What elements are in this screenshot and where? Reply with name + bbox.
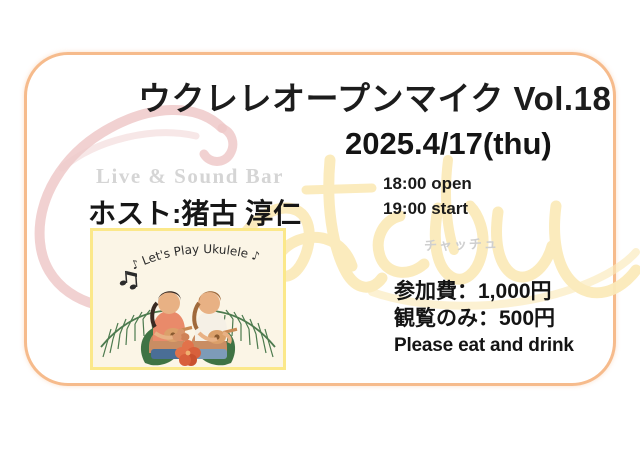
open-time: 18:00 open [383, 171, 472, 196]
price-block: 参加費：1,000円 観覧のみ：500円 Please eat and drin… [394, 278, 574, 359]
eat-drink-note: Please eat and drink [394, 332, 574, 359]
page-title: ウクレレオープンマイク Vol.18 [138, 72, 611, 120]
brand-reading-katakana: チャッチュ [424, 233, 499, 255]
venue-brand-label: Live & Sound Bar [96, 164, 284, 189]
viewing-fee: 観覧のみ：500円 [394, 305, 574, 332]
start-time: 19:00 start [383, 196, 472, 221]
entry-fee: 参加費：1,000円 [394, 278, 574, 305]
ukulele-illustration-svg: ♪ Let's Play Ukulele ♪ [93, 231, 283, 367]
ukulele-illustration: ♪ Let's Play Ukulele ♪ [90, 228, 286, 370]
poster-canvas: ウクレレオープンマイク Vol.18 2025.4/17(thu) Live &… [0, 0, 640, 452]
event-date: 2025.4/17(thu) [345, 126, 552, 162]
host-label: ホスト:猪古 淳仁 [88, 192, 301, 232]
event-times: 18:00 open 19:00 start [383, 171, 472, 221]
